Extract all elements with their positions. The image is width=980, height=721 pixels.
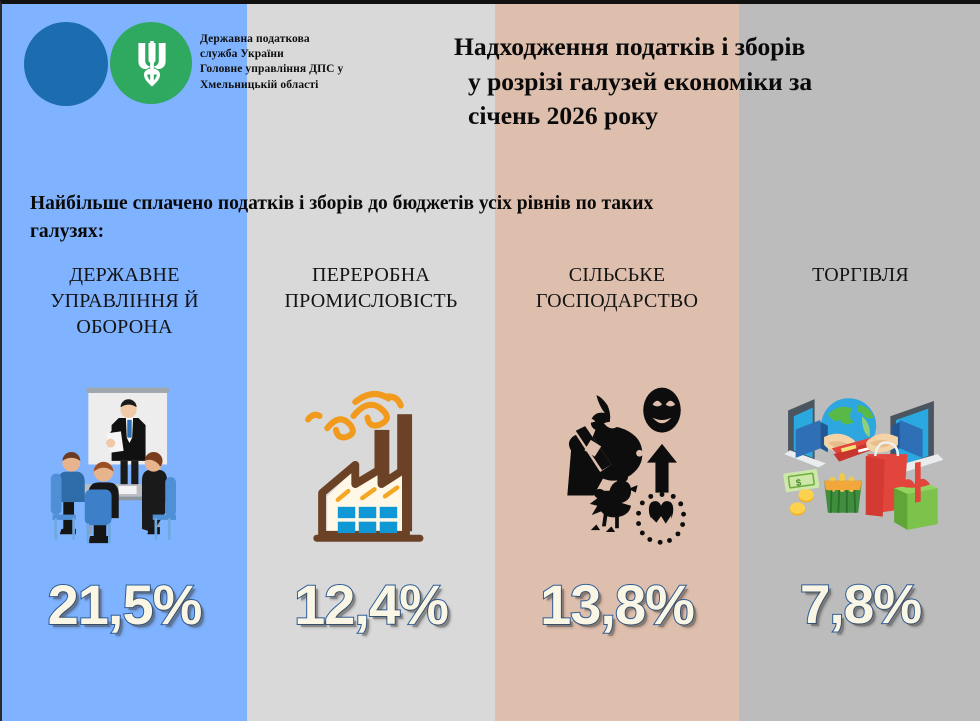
sector-heading-line-1: ДЕРЖАВНЕ (10, 262, 239, 288)
org-name-line-3: Головне управління ДПС у (200, 62, 370, 77)
org-name-line-4: Хмельницькій області (200, 78, 370, 93)
sector-heading-manufacturing: ПЕРЕРОБНА ПРОМИСЛОВІСТЬ (255, 262, 487, 314)
livestock-agriculture-illustration (495, 364, 739, 564)
page-title-line-3: січень 2026 року (454, 99, 924, 134)
sector-heading-line-1: ТОРГІВЛЯ (747, 262, 974, 288)
sector-value-trade: 7,8% (739, 572, 980, 636)
sector-value-agriculture: 13,8% (495, 572, 739, 637)
page-title-line-1: Надходження податків і зборів (454, 30, 924, 65)
blue-circle-icon (24, 22, 108, 106)
sector-heading-government: ДЕРЖАВНЕ УПРАВЛІННЯ Й ОБОРОНА (10, 262, 239, 340)
sector-heading-line-1: ПЕРЕРОБНА (255, 262, 487, 288)
subtitle-text: Найбільше сплачено податків і зборів до … (30, 190, 710, 245)
organization-name: Державна податкова служба України Головн… (200, 32, 370, 93)
ecommerce-trade-illustration: $ (739, 364, 980, 564)
sector-value-government: 21,5% (2, 572, 247, 637)
page-title: Надходження податків і зборів у розрізі … (454, 30, 924, 134)
org-name-line-2: служба України (200, 47, 370, 62)
sector-heading-line-2: ПРОМИСЛОВІСТЬ (255, 288, 487, 314)
sector-heading-line-2: УПРАВЛІННЯ Й (10, 288, 239, 314)
sector-heading-trade: ТОРГІВЛЯ (747, 262, 974, 288)
sector-heading-line-2: ГОСПОДАРСТВО (503, 288, 731, 314)
page-title-line-2: у розрізі галузей економіки за (454, 65, 924, 100)
sector-value-manufacturing: 12,4% (247, 572, 495, 637)
infographic-poster: Державна податкова служба України Головн… (0, 0, 980, 721)
org-name-line-1: Державна податкова (200, 32, 370, 47)
logo-block: Державна податкова служба України Головн… (22, 16, 372, 112)
sector-heading-agriculture: СІЛЬСЬКЕ ГОСПОДАРСТВО (503, 262, 731, 314)
factory-illustration (247, 364, 495, 564)
sector-heading-line-1: СІЛЬСЬКЕ (503, 262, 731, 288)
sector-column-government: ДЕРЖАВНЕ УПРАВЛІННЯ Й ОБОРОНА (2, 256, 247, 666)
sector-column-agriculture: СІЛЬСЬКЕ ГОСПОДАРСТВО (495, 256, 739, 666)
sector-column-manufacturing: ПЕРЕРОБНА ПРОМИСЛОВІСТЬ (247, 256, 495, 666)
ukraine-trident-icon (134, 38, 170, 90)
sector-columns: ДЕРЖАВНЕ УПРАВЛІННЯ Й ОБОРОНА (2, 256, 980, 666)
sector-heading-line-3: ОБОРОНА (10, 314, 239, 340)
meeting-presentation-illustration (2, 364, 247, 564)
sector-column-trade: ТОРГІВЛЯ (739, 256, 980, 666)
